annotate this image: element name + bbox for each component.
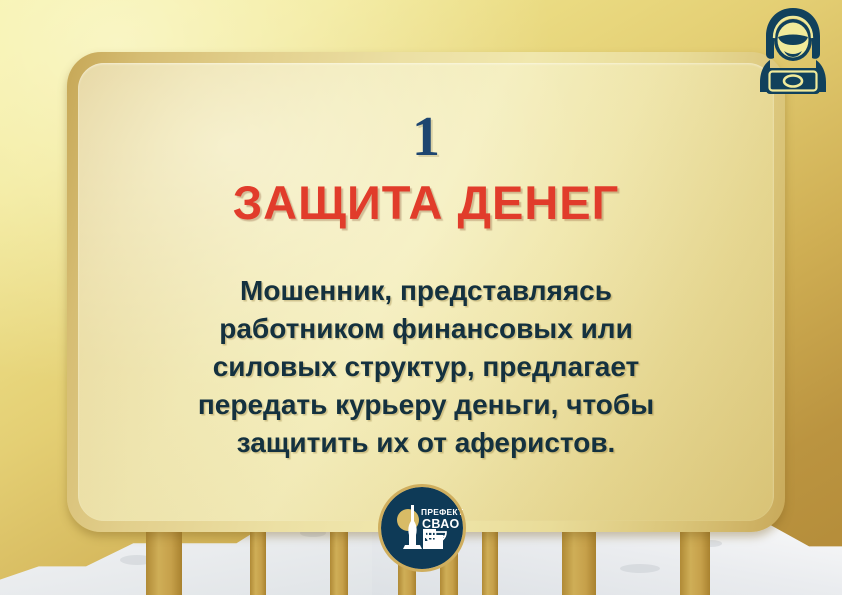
logo-ring: [378, 484, 466, 572]
body-line: силовых структур, предлагает: [146, 348, 706, 386]
body-text: Мошенник, представляясь работником финан…: [146, 272, 706, 462]
body-line: передать курьеру деньги, чтобы: [146, 386, 706, 424]
body-line: работником финансовых или: [146, 310, 706, 348]
prefecture-svao-logo: ПРЕФЕКТУРА СВАО: [381, 487, 463, 569]
info-board: 1 ЗАЩИТА ДЕНЕГ Мошенник, представляясь р…: [67, 52, 785, 532]
body-line: защитить их от аферистов.: [146, 424, 706, 462]
rock-speck: [620, 564, 660, 573]
item-number: 1: [412, 109, 440, 165]
body-line: Мошенник, представляясь: [146, 272, 706, 310]
info-board-surface: 1 ЗАЩИТА ДЕНЕГ Мошенник, представляясь р…: [78, 63, 774, 521]
hacker-laptop-icon: [754, 4, 832, 96]
poster-canvas: 1 ЗАЩИТА ДЕНЕГ Мошенник, представляясь р…: [0, 0, 842, 595]
page-title: ЗАЩИТА ДЕНЕГ: [233, 179, 620, 226]
